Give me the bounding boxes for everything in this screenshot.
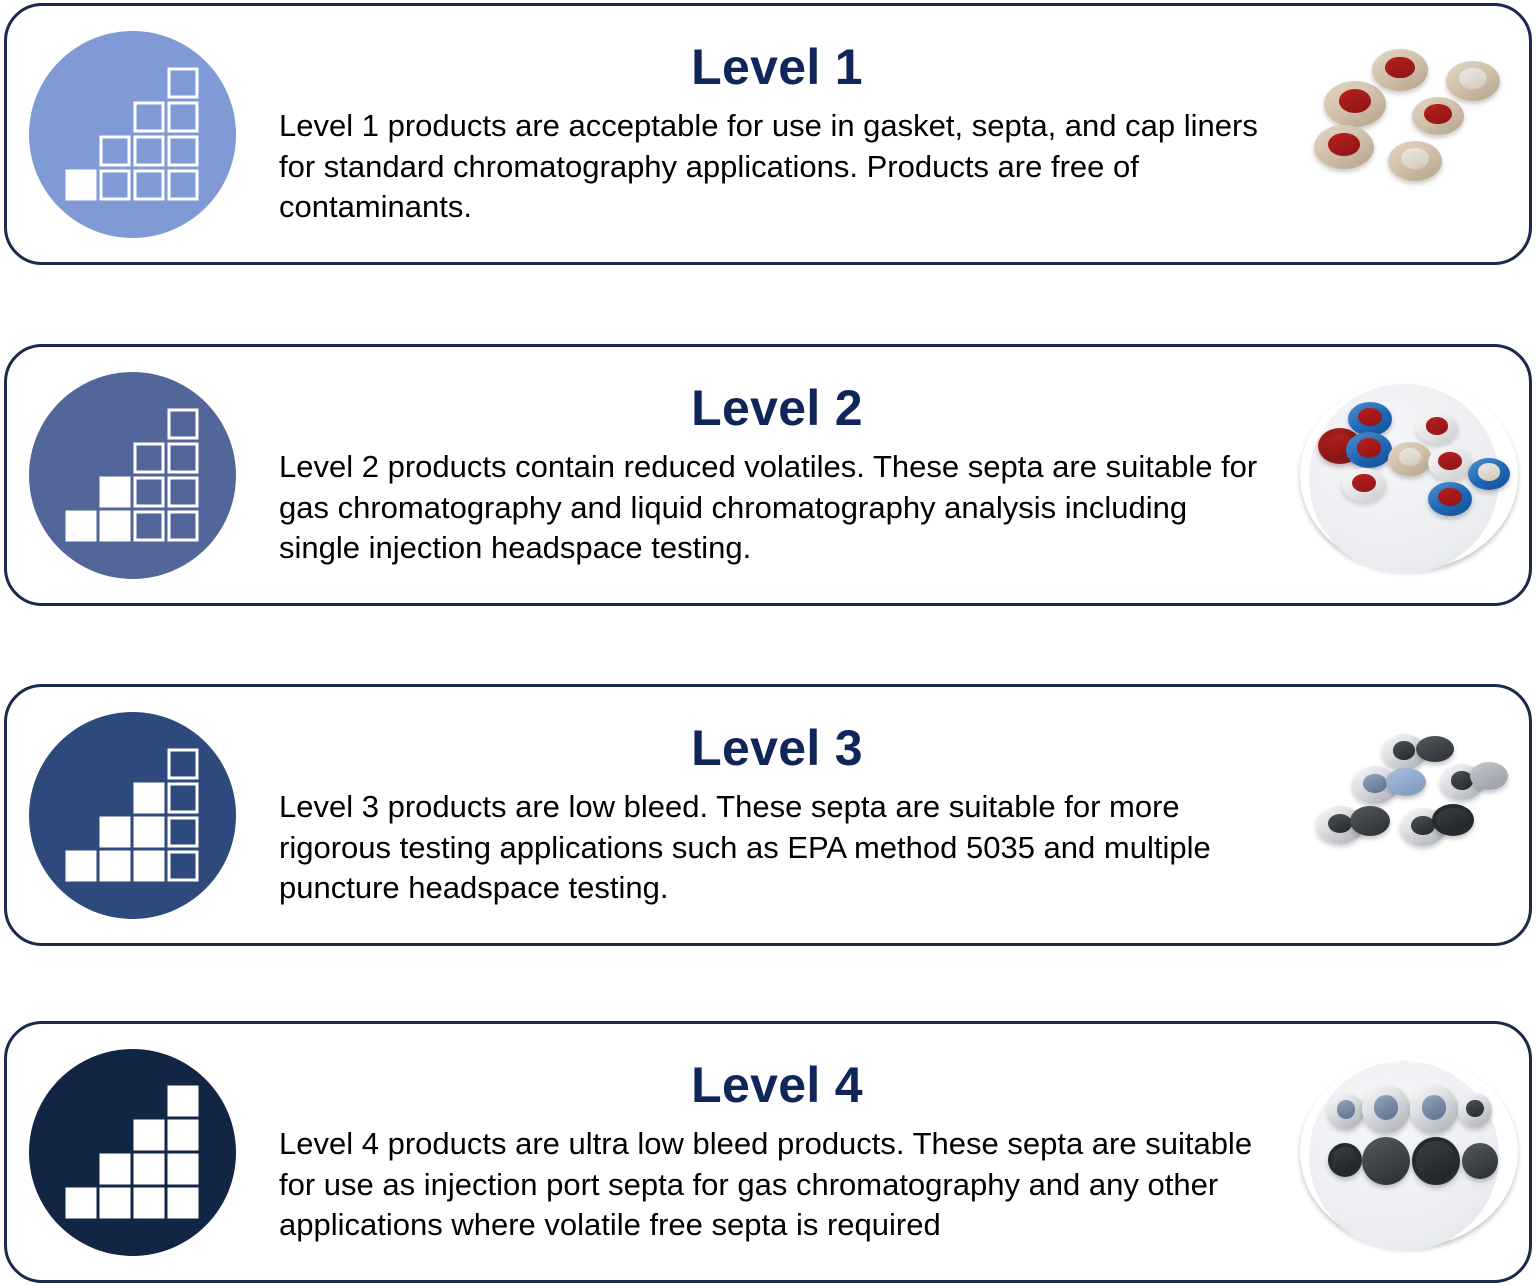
level-photo-wrap-2	[1289, 347, 1529, 603]
bar-square-filled	[134, 817, 165, 848]
product-photo-tan-caps-icon	[1300, 39, 1518, 229]
level-icon-wrap-3	[7, 687, 257, 943]
bar-square-hollow	[168, 511, 199, 542]
bar-chart-steps-icon	[66, 68, 199, 201]
bar-column	[168, 749, 199, 882]
level-description: Level 3 products are low bleed. These se…	[279, 787, 1275, 908]
bar-square-hollow	[168, 851, 199, 882]
level-content-2: Level 2 Level 2 products contain reduced…	[257, 382, 1289, 568]
bar-column	[100, 477, 131, 542]
bar-square-hollow	[168, 136, 199, 167]
bar-column	[168, 409, 199, 542]
level-content-3: Level 3 Level 3 products are low bleed. …	[257, 722, 1289, 908]
level-description: Level 2 products contain reduced volatil…	[279, 447, 1275, 568]
bar-square-filled	[134, 783, 165, 814]
bar-column	[168, 1086, 199, 1219]
bar-square-hollow	[168, 102, 199, 133]
bar-square-filled	[66, 170, 97, 201]
bar-column	[134, 783, 165, 882]
level-card-4[interactable]: Level 4 Level 4 products are ultra low b…	[4, 1021, 1532, 1283]
bar-column	[134, 443, 165, 542]
bar-square-filled	[168, 1188, 199, 1219]
bar-square-hollow	[168, 443, 199, 474]
level-circle-4	[29, 1049, 236, 1256]
bar-square-filled	[100, 511, 131, 542]
level-card-2[interactable]: Level 2 Level 2 products contain reduced…	[4, 344, 1532, 606]
level-content-4: Level 4 Level 4 products are ultra low b…	[257, 1059, 1289, 1245]
product-photo-crimp-caps-icon	[1300, 720, 1518, 910]
bar-column	[134, 102, 165, 201]
bar-column	[134, 1120, 165, 1219]
levels-infographic: Level 1 Level 1 products are acceptable …	[0, 0, 1536, 1286]
level-photo-wrap-4	[1289, 1024, 1529, 1280]
bar-square-filled	[168, 1120, 199, 1151]
bar-square-filled	[100, 851, 131, 882]
bar-column	[100, 1154, 131, 1219]
bar-square-hollow	[134, 477, 165, 508]
level-circle-1	[29, 31, 236, 238]
bar-column	[100, 817, 131, 882]
bar-square-hollow	[100, 136, 131, 167]
bar-chart-steps-icon	[66, 1086, 199, 1219]
bar-square-hollow	[100, 170, 131, 201]
bar-square-filled	[134, 851, 165, 882]
bar-square-filled	[134, 1154, 165, 1185]
bar-square-filled	[134, 1120, 165, 1151]
bar-square-filled	[134, 1188, 165, 1219]
level-icon-wrap-4	[7, 1024, 257, 1280]
bar-square-hollow	[168, 477, 199, 508]
level-description: Level 1 products are acceptable for use …	[279, 106, 1275, 227]
bar-square-hollow	[134, 170, 165, 201]
bar-column	[66, 170, 97, 201]
product-photo-colored-caps-icon	[1300, 380, 1518, 570]
level-title: Level 1	[279, 41, 1275, 94]
level-title: Level 4	[279, 1059, 1275, 1112]
bar-square-hollow	[168, 68, 199, 99]
bar-square-filled	[100, 1154, 131, 1185]
bar-square-hollow	[134, 136, 165, 167]
level-icon-wrap-1	[7, 6, 257, 262]
bar-chart-steps-icon	[66, 749, 199, 882]
bar-square-hollow	[168, 817, 199, 848]
bar-square-hollow	[168, 170, 199, 201]
bar-square-filled	[100, 817, 131, 848]
level-circle-2	[29, 372, 236, 579]
level-photo-wrap-1	[1289, 6, 1529, 262]
bar-square-filled	[66, 511, 97, 542]
bar-square-hollow	[168, 783, 199, 814]
level-content-1: Level 1 Level 1 products are acceptable …	[257, 41, 1289, 227]
level-title: Level 2	[279, 382, 1275, 435]
bar-square-filled	[100, 1188, 131, 1219]
bar-square-hollow	[168, 749, 199, 780]
level-icon-wrap-2	[7, 347, 257, 603]
level-photo-wrap-3	[1289, 687, 1529, 943]
level-card-1[interactable]: Level 1 Level 1 products are acceptable …	[4, 3, 1532, 265]
bar-square-hollow	[134, 443, 165, 474]
bar-square-filled	[66, 1188, 97, 1219]
level-title: Level 3	[279, 722, 1275, 775]
bar-square-filled	[168, 1086, 199, 1117]
level-card-3[interactable]: Level 3 Level 3 products are low bleed. …	[4, 684, 1532, 946]
bar-square-filled	[66, 851, 97, 882]
level-description: Level 4 products are ultra low bleed pro…	[279, 1124, 1275, 1245]
bar-column	[100, 136, 131, 201]
bar-square-hollow	[134, 511, 165, 542]
level-circle-3	[29, 712, 236, 919]
bar-column	[66, 1188, 97, 1219]
bar-square-hollow	[168, 409, 199, 440]
bar-square-filled	[168, 1154, 199, 1185]
bar-square-filled	[100, 477, 131, 508]
bar-column	[66, 851, 97, 882]
bar-chart-steps-icon	[66, 409, 199, 542]
bar-column	[66, 511, 97, 542]
bar-column	[168, 68, 199, 201]
bar-square-hollow	[134, 102, 165, 133]
product-photo-septa-discs-icon	[1300, 1057, 1518, 1247]
